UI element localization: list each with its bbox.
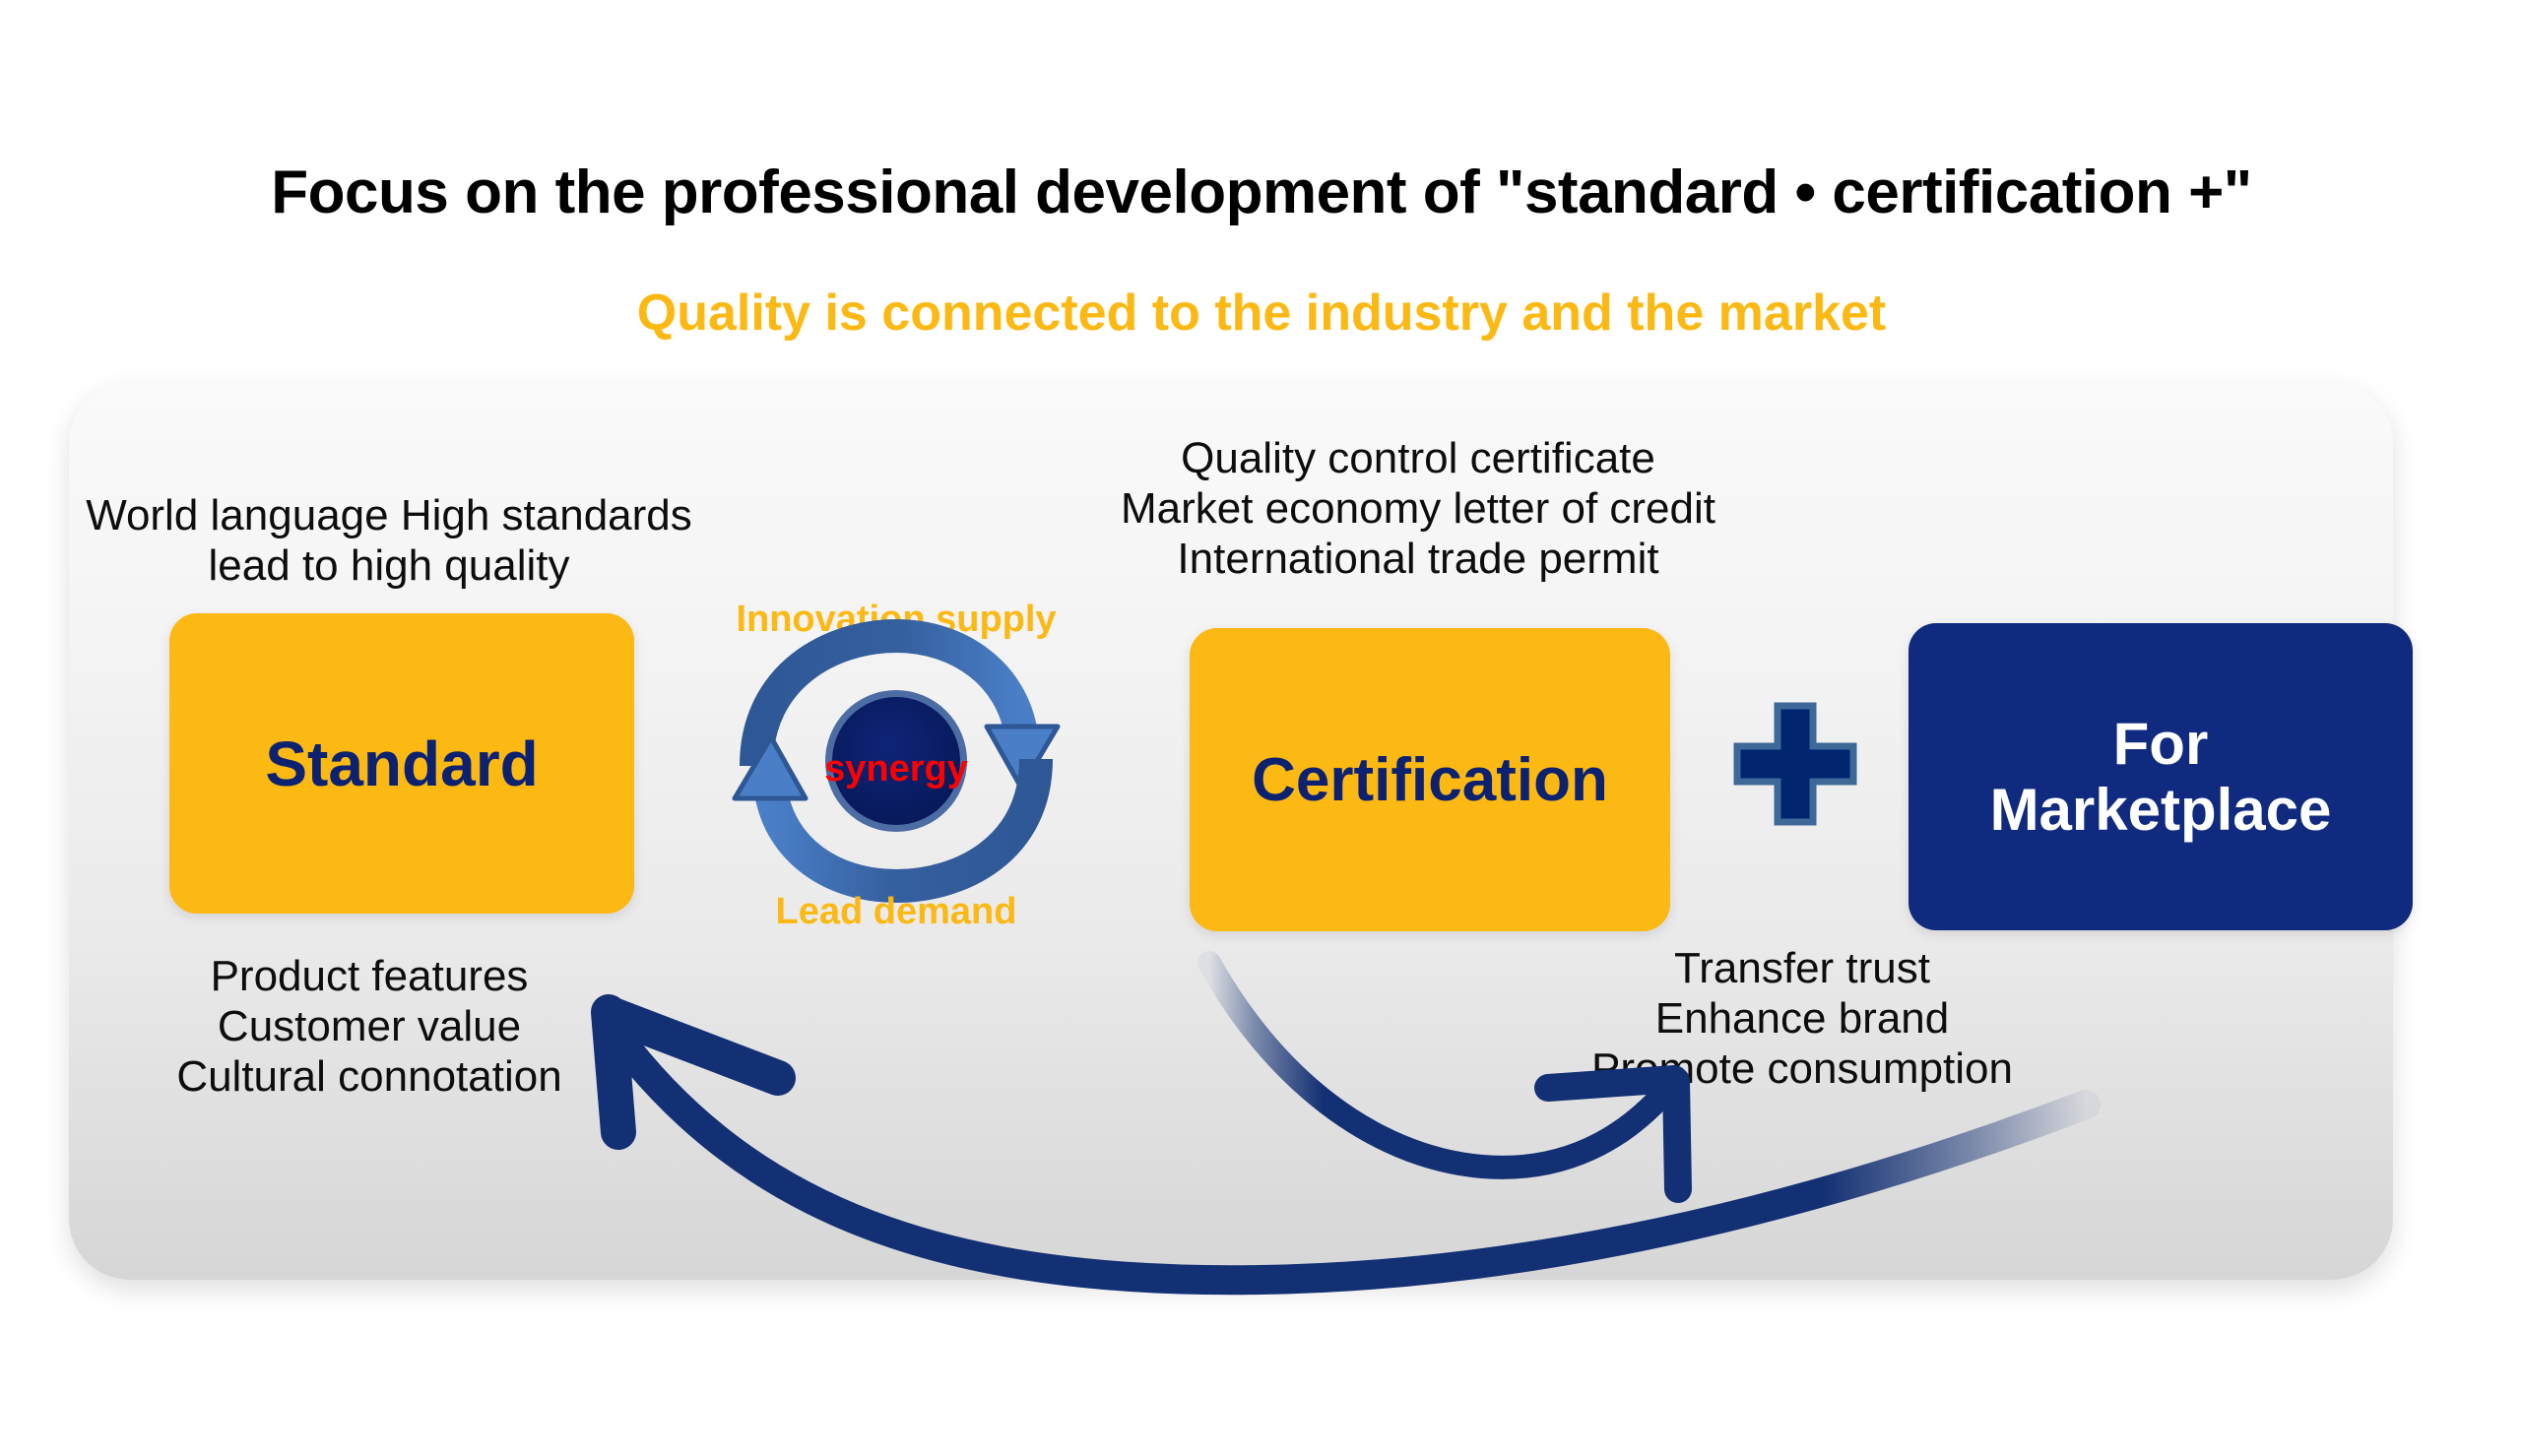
marketplace-bottom-note-line-1: Transfer trust [1556,943,2048,993]
certification-top-note-line-1: Quality control certificate [1068,433,1768,483]
standard-bottom-note-line-2: Customer value [148,1001,591,1051]
cycle-bottom-label: Lead demand [689,891,1103,933]
certification-top-note-line-3: International trade permit [1068,534,1768,584]
synergy-center-label: synergy [773,748,1019,791]
standard-bottom-note: Product features Customer value Cultural… [148,951,591,1102]
standard-top-note-line-2: lead to high quality [74,540,704,591]
certification-top-note-line-2: Market economy letter of credit [1068,483,1768,534]
standard-bottom-note-line-3: Cultural connotation [148,1051,591,1102]
marketplace-box-label-line-1: For [1990,711,2332,777]
marketplace-bottom-note-line-3: Promote consumption [1556,1044,2048,1094]
certification-box[interactable]: Certification [1190,628,1670,931]
marketplace-bottom-note: Transfer trust Enhance brand Promote con… [1556,943,2048,1094]
marketplace-box[interactable]: For Marketplace [1908,623,2413,930]
plus-icon [1733,702,1857,826]
standard-top-note: World language High standards lead to hi… [74,490,704,591]
certification-top-note: Quality control certificate Market econo… [1068,433,1768,584]
standard-top-note-line-1: World language High standards [74,490,704,540]
marketplace-bottom-note-line-2: Enhance brand [1556,993,2048,1044]
page-subtitle: Quality is connected to the industry and… [0,284,2523,343]
marketplace-box-label-line-2: Marketplace [1990,777,2332,843]
standard-bottom-note-line-1: Product features [148,951,591,1001]
page-title: Focus on the professional development of… [0,158,2523,227]
standard-box[interactable]: Standard [169,613,634,914]
